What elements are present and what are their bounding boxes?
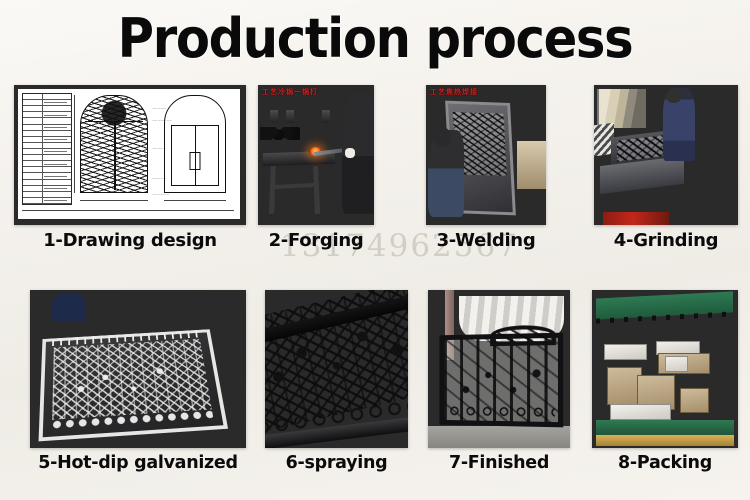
- step-card-2: 工艺冷锅一锅打 2-Forging: [258, 85, 374, 263]
- packing-photo[interactable]: [592, 290, 738, 448]
- step-caption-6: 6-spraying: [286, 453, 388, 473]
- finished-photo[interactable]: [428, 290, 570, 448]
- worker-head: [666, 89, 682, 103]
- step-card-4: 4-Grinding: [594, 85, 738, 263]
- forging-photo[interactable]: 工艺冷锅一锅打: [258, 85, 374, 225]
- bucket: [286, 110, 294, 123]
- step-caption-4: 4-Grinding: [614, 230, 718, 251]
- step-caption-5: 5-Hot-dip galvanized: [38, 453, 237, 473]
- scrap-pile: [260, 127, 299, 140]
- worker-head: [433, 127, 451, 147]
- cad-dim-line: [74, 95, 75, 193]
- step-card-5: 5-Hot-dip galvanized: [30, 290, 246, 490]
- step-caption-8: 8-Packing: [618, 453, 712, 473]
- galvanized-scrollwork: [52, 339, 212, 420]
- step-caption-7: 7-Finished: [449, 453, 549, 473]
- step-card-7: 7-Finished: [428, 290, 570, 490]
- cad-elevation-view: [164, 95, 226, 193]
- step-card-6: 6-spraying: [265, 290, 408, 490]
- wrapped-package: [665, 356, 688, 372]
- step-caption-2: 2-Forging: [269, 230, 364, 251]
- step-card-8: 8-Packing: [592, 290, 738, 490]
- page-title: Production process: [30, 8, 720, 70]
- bucket: [270, 110, 278, 123]
- step-caption-3: 3-Welding: [437, 230, 536, 251]
- background-door-rack: [597, 89, 646, 128]
- cad-sheet: —— ——— —— ——— —— —— —— ——— —— —— ——— —: [18, 89, 240, 219]
- step-card-1: —— ——— —— ——— —— —— —— ——— —— —— ——— — 1…: [14, 85, 246, 263]
- wrapped-package: [610, 404, 671, 420]
- ring-border: [447, 406, 554, 419]
- welding-photo[interactable]: 工艺焦热焊接: [426, 85, 546, 225]
- cad-spec-table: [22, 93, 72, 205]
- workshop-floor: [428, 426, 570, 448]
- cad-dim-line: [164, 200, 226, 201]
- container-floor: [596, 420, 733, 437]
- cad-lock-detail: [190, 152, 201, 170]
- cad-ornamental-door-view: [80, 95, 148, 193]
- cad-dim-line: [80, 200, 148, 201]
- wrapped-package: [604, 344, 648, 360]
- container-ceiling: [596, 291, 733, 319]
- forging-overlay-text: 工艺冷锅一锅打: [262, 87, 318, 97]
- bucket: [322, 110, 330, 123]
- welding-overlay-text: 工艺焦热焊接: [430, 87, 478, 97]
- galvanized-gate-panel: [38, 329, 228, 441]
- container-sill: [596, 435, 733, 446]
- hot-dip-galvanized-photo[interactable]: [30, 290, 246, 448]
- grinding-photo[interactable]: [594, 85, 738, 225]
- spraying-photo[interactable]: [265, 290, 408, 448]
- work-glove: [345, 148, 355, 158]
- gate-arch-top: [490, 325, 555, 346]
- drawing-design-photo[interactable]: —— ——— —— ——— —— —— —— ——— —— —— ——— —: [14, 85, 246, 225]
- step-caption-1: 1-Drawing design: [43, 230, 217, 251]
- background-worker: [52, 293, 87, 321]
- step-card-3: 工艺焦热焊接 3-Welding: [426, 85, 546, 263]
- cardboard-stack: [517, 141, 546, 189]
- cad-title-block: [22, 210, 234, 211]
- bench-legs: [269, 166, 320, 213]
- red-banner: [603, 212, 669, 225]
- cardboard-box: [680, 388, 709, 413]
- finished-gate: [439, 333, 563, 427]
